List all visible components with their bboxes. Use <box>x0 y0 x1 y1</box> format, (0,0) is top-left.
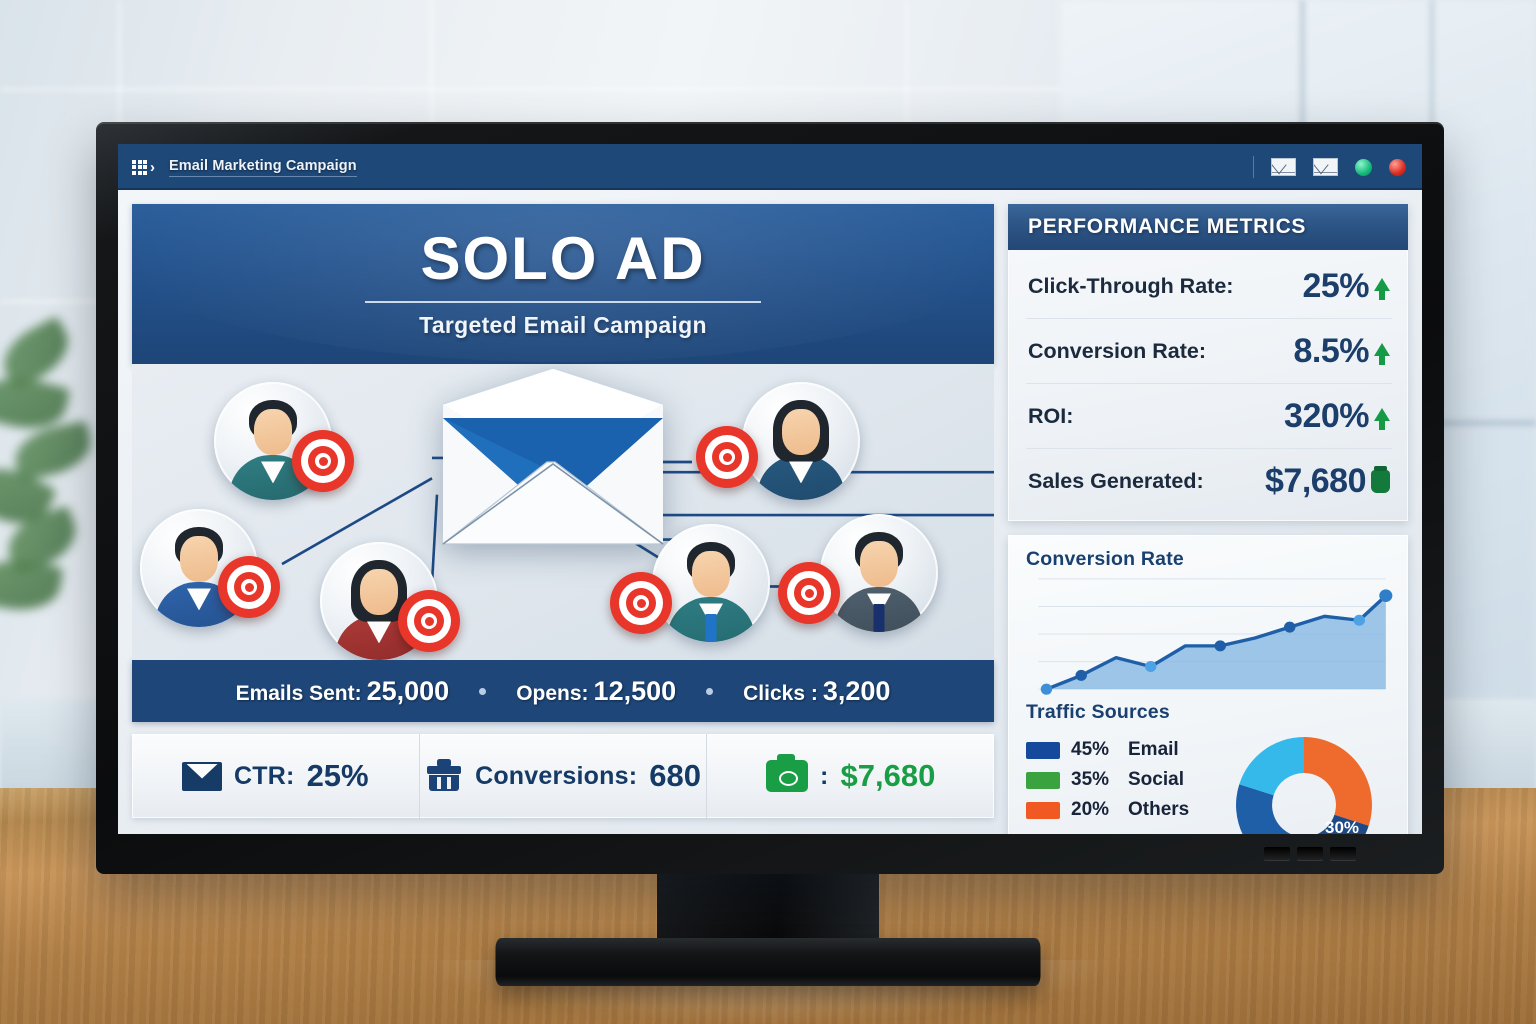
stat-emails-sent: Emails Sent:25,000 <box>236 676 450 707</box>
kpi-value: $7,680 <box>841 758 936 794</box>
metric-value-group: $7,680 <box>1265 462 1390 501</box>
line-chart-title: Conversion Rate <box>1026 548 1394 571</box>
target-icon <box>778 562 840 624</box>
legend-swatch <box>1026 772 1060 789</box>
kpi-label: CTR: <box>234 762 295 791</box>
metric-row: ROI: 320% <box>1026 383 1392 448</box>
slice-label: 30% <box>1325 818 1359 834</box>
page-title: SOLO AD <box>420 229 705 289</box>
kpi-label: : <box>820 762 829 791</box>
legend-item-others: 20% Others <box>1026 799 1210 821</box>
legend-label: Social <box>1128 769 1184 791</box>
status-dot-red[interactable] <box>1389 159 1406 176</box>
envelope-icon <box>182 762 222 791</box>
metric-value-group: 8.5% <box>1294 332 1391 371</box>
person-female-blue[interactable] <box>742 382 860 500</box>
metric-row: Sales Generated: $7,680 <box>1026 448 1392 513</box>
computer-monitor: › Email Marketing Campaign SOLO AD <box>96 122 1444 874</box>
bullet-separator <box>706 688 713 695</box>
trend-up-icon <box>1374 408 1390 421</box>
titlebar-controls <box>1253 156 1406 178</box>
legend-swatch <box>1026 802 1060 819</box>
stat-label: Emails Sent: <box>236 682 362 705</box>
bullet-separator <box>479 688 486 695</box>
money-icon <box>766 760 808 792</box>
metric-label: Sales Generated: <box>1028 469 1204 494</box>
kpi-value: 680 <box>649 758 701 794</box>
stat-label: Opens: <box>516 682 588 705</box>
metric-value: 25% <box>1302 267 1369 306</box>
shopping-cart-icon <box>425 759 463 793</box>
conversion-rate-line-chart <box>1026 573 1394 701</box>
target-icon <box>610 572 672 634</box>
stat-label: Clicks : <box>743 682 818 705</box>
person-male-suit-navy[interactable] <box>820 514 938 632</box>
divider <box>365 301 761 303</box>
stat-value: 25,000 <box>367 676 450 706</box>
stat-opens: Opens:12,500 <box>516 676 676 707</box>
envelope-icon[interactable] <box>1313 158 1338 176</box>
performance-metrics-card: PERFORMANCE METRICS Click-Through Rate: … <box>1008 204 1408 521</box>
metric-value: $7,680 <box>1265 462 1366 501</box>
charts-card: Conversion Rate <box>1008 535 1408 834</box>
money-bag-icon <box>1371 470 1390 493</box>
metric-label: ROI: <box>1028 404 1073 429</box>
metric-label: Conversion Rate: <box>1028 339 1206 364</box>
person-male-suit-teal[interactable] <box>652 524 770 642</box>
monitor-vents <box>1264 842 1384 864</box>
stat-value: 12,500 <box>594 676 677 706</box>
legend-item-email: 45% Email <box>1026 739 1210 761</box>
metric-value: 320% <box>1284 397 1369 436</box>
metric-value: 8.5% <box>1294 332 1370 371</box>
dashboard-body: SOLO AD Targeted Email Campaign <box>118 190 1422 834</box>
metric-row: Conversion Rate: 8.5% <box>1026 318 1392 383</box>
window-titlebar: › Email Marketing Campaign <box>118 144 1422 190</box>
kpi-bar: CTR: 25% <box>132 734 994 818</box>
card-heading: PERFORMANCE METRICS <box>1008 204 1408 250</box>
envelope-icon[interactable] <box>1271 158 1296 176</box>
metrics-list: Click-Through Rate: 25% Conversion Rate:… <box>1008 250 1408 521</box>
campaign-stats-bar: Emails Sent:25,000 Opens:12,500 Clicks :… <box>132 660 994 722</box>
target-icon <box>218 556 280 618</box>
legend-swatch <box>1026 742 1060 759</box>
envelope-icon <box>435 366 671 548</box>
pie-chart-title: Traffic Sources <box>1026 701 1394 724</box>
target-icon <box>696 426 758 488</box>
kpi-ctr[interactable]: CTR: 25% <box>132 734 419 818</box>
monitor-screen: › Email Marketing Campaign SOLO AD <box>118 144 1422 834</box>
legend-percent: 35% <box>1071 769 1117 791</box>
left-column: SOLO AD Targeted Email Campaign <box>132 204 994 818</box>
target-icon <box>398 590 460 652</box>
stat-clicks: Clicks :3,200 <box>743 676 890 707</box>
status-dot-green[interactable] <box>1355 159 1372 176</box>
grid-arrow-icon[interactable]: › <box>132 160 155 175</box>
chart-legend-column: 45% Email 35% Social <box>1026 730 1210 821</box>
trend-up-icon <box>1374 343 1390 356</box>
metric-label: Click-Through Rate: <box>1028 274 1233 299</box>
monitor-stand-neck <box>657 874 879 946</box>
kpi-label: Conversions: <box>475 762 637 791</box>
hero-banner: SOLO AD Targeted Email Campaign <box>132 204 994 364</box>
legend: 45% Email 35% Social <box>1026 739 1210 821</box>
window-title: Email Marketing Campaign <box>169 158 357 177</box>
legend-percent: 45% <box>1071 739 1117 761</box>
legend-percent: 20% <box>1071 799 1117 821</box>
kpi-value: 25% <box>307 758 369 794</box>
traffic-sources-chart: 45% Email 35% Social <box>1026 730 1394 834</box>
stat-value: 3,200 <box>823 676 891 706</box>
right-column: PERFORMANCE METRICS Click-Through Rate: … <box>1008 204 1408 818</box>
metric-row: Click-Through Rate: 25% <box>1026 254 1392 318</box>
monitor-stand-base <box>496 938 1041 986</box>
divider <box>1253 156 1254 178</box>
kpi-revenue[interactable]: : $7,680 <box>706 734 994 818</box>
kpi-conversions[interactable]: Conversions: 680 <box>419 734 707 818</box>
trend-up-icon <box>1374 278 1390 291</box>
audience-network-diagram <box>132 364 994 660</box>
metric-value-group: 320% <box>1284 397 1390 436</box>
metric-value-group: 25% <box>1302 267 1390 306</box>
page-subtitle: Targeted Email Campaign <box>419 312 707 339</box>
legend-label: Email <box>1128 739 1179 761</box>
donut-chart: 30% 20% <box>1214 730 1394 834</box>
office-scene: › Email Marketing Campaign SOLO AD <box>0 0 1536 1024</box>
target-icon <box>292 430 354 492</box>
legend-item-social: 35% Social <box>1026 769 1210 791</box>
legend-label: Others <box>1128 799 1189 821</box>
